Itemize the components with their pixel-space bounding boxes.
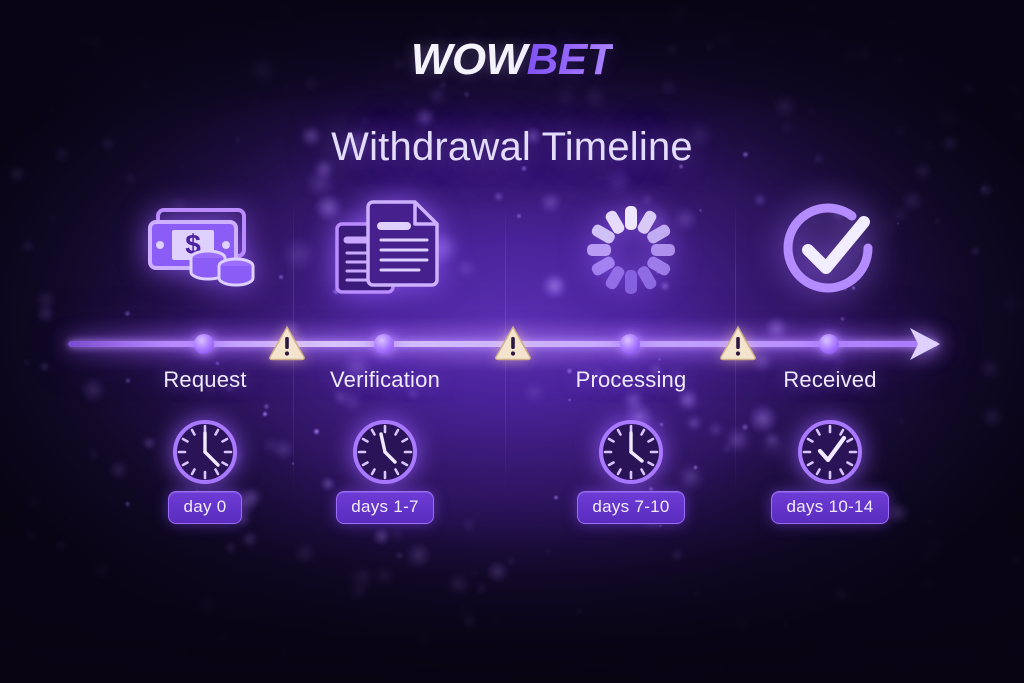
background-bottom-fade xyxy=(0,523,1024,683)
money-cash-icon: $ xyxy=(140,196,270,296)
clock-icon xyxy=(349,416,421,488)
stage-badge-verification: days 1-7 xyxy=(275,491,495,524)
stage-clock-verification xyxy=(275,416,495,493)
clock-icon xyxy=(595,416,667,488)
check-circle-icon xyxy=(776,196,884,304)
logo-primary-text: WOW xyxy=(411,35,527,84)
stage-badge-received: days 10-14 xyxy=(720,491,940,524)
warning-triangle-icon xyxy=(268,325,306,361)
timeline-node-processing xyxy=(620,334,640,354)
brand-logo: WOWBET xyxy=(0,38,1024,82)
stage-icon-processing xyxy=(521,196,741,306)
arrow-right-icon xyxy=(900,320,948,368)
stage-clock-received xyxy=(720,416,940,493)
stage-badge-text: days 7-10 xyxy=(577,491,684,524)
stage-clock-processing xyxy=(521,416,741,493)
timeline-node-verification xyxy=(374,334,394,354)
stage-badge-processing: days 7-10 xyxy=(521,491,741,524)
withdrawal-timeline-infographic: WOWBET Withdrawal Timeline $ Request xyxy=(0,0,1024,683)
clock-check-icon xyxy=(794,416,866,488)
warning-triangle-icon xyxy=(719,325,757,361)
stage-badge-text: day 0 xyxy=(168,491,241,524)
stage-label-received: Received xyxy=(720,367,940,393)
clock-icon xyxy=(169,416,241,488)
page-title: Withdrawal Timeline xyxy=(0,125,1024,170)
warning-triangle-icon xyxy=(494,325,532,361)
stage-label-verification: Verification xyxy=(275,367,495,393)
stage-badge-text: days 10-14 xyxy=(771,491,888,524)
documents-icon xyxy=(325,196,445,298)
logo-accent-text: BET xyxy=(527,35,614,84)
stage-icon-verification xyxy=(275,196,495,306)
stage-badge-text: days 1-7 xyxy=(336,491,434,524)
stage-icon-received xyxy=(720,196,940,306)
timeline-node-request xyxy=(194,334,214,354)
stage-label-processing: Processing xyxy=(521,367,741,393)
loading-spinner-icon xyxy=(577,196,685,304)
timeline-node-received xyxy=(819,334,839,354)
